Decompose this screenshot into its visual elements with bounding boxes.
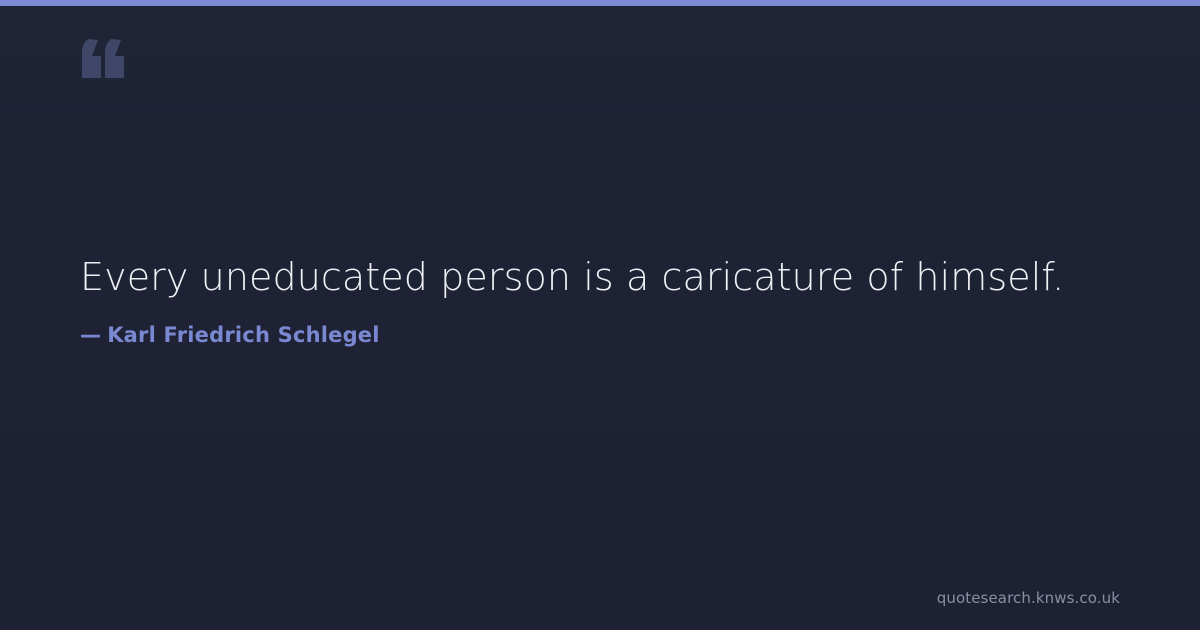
quote-attribution: —Karl Friedrich Schlegel — [80, 302, 1120, 349]
site-watermark: quotesearch.knws.co.uk — [937, 588, 1120, 608]
attribution-author: Karl Friedrich Schlegel — [107, 323, 379, 347]
quote-content: Every uneducated person is a caricature … — [80, 252, 1120, 349]
left-double-quotation-mark-icon — [78, 18, 138, 88]
quote-card: Every uneducated person is a caricature … — [0, 0, 1200, 630]
top-accent-bar — [0, 0, 1200, 6]
attribution-dash: — — [80, 321, 107, 349]
quote-text: Every uneducated person is a caricature … — [80, 252, 1120, 302]
